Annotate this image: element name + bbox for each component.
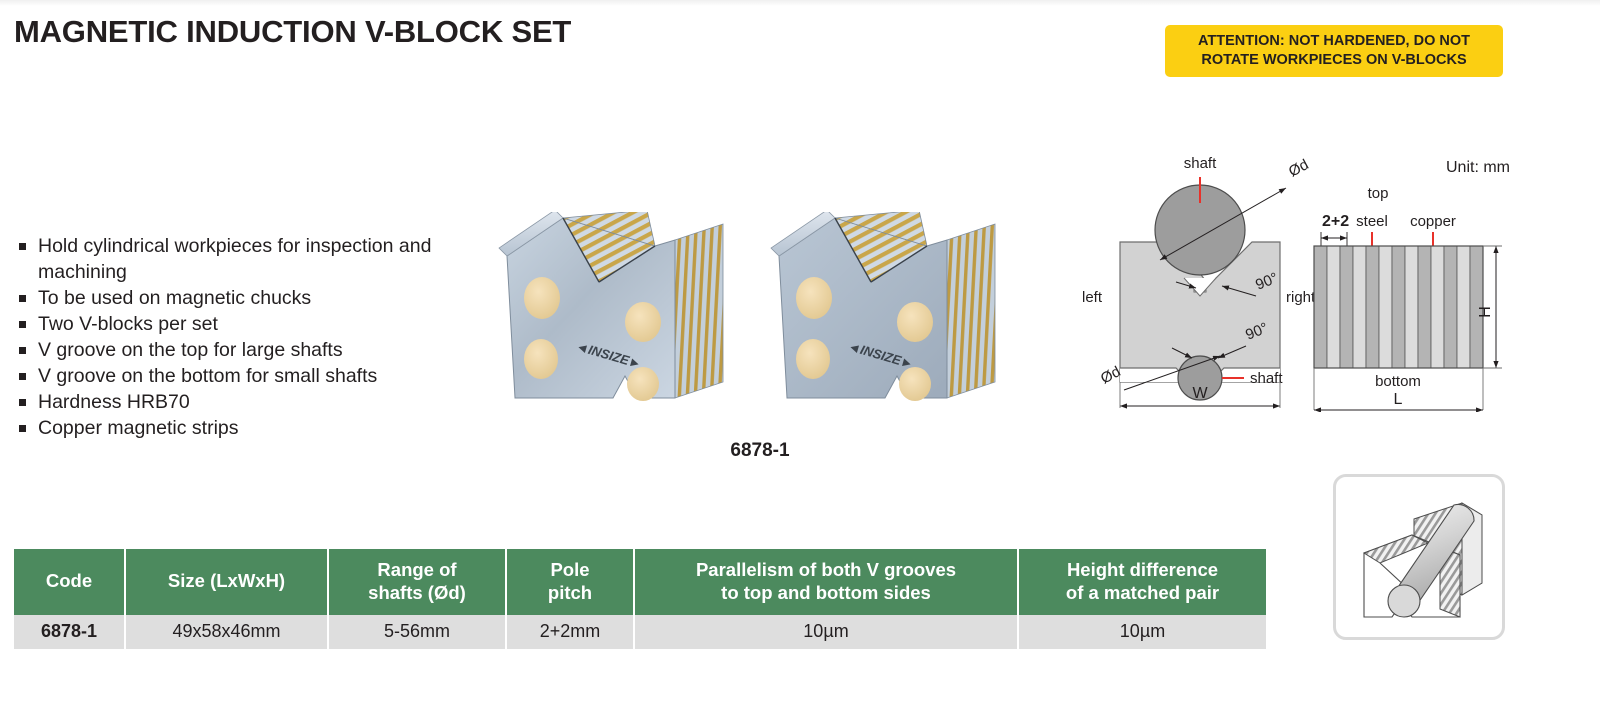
attention-line-2: ROTATE WORKPIECES ON V-BLOCKS — [1171, 51, 1497, 70]
header-line: pitch — [548, 582, 592, 603]
side-view-diagram: Unit: mm top 2+2 steel copper — [1314, 159, 1510, 410]
label-diameter-top: Ød — [1286, 156, 1312, 180]
header-line: Size (LxWxH) — [168, 570, 285, 591]
table-header-row: Code Size (LxWxH) Range of shafts (Ød) P… — [14, 549, 1266, 615]
lamination-strips — [1314, 246, 1483, 368]
cell-code: 6878-1 — [14, 615, 125, 649]
list-item: Copper magnetic strips — [16, 415, 446, 441]
attention-banner: ATTENTION: NOT HARDENED, DO NOT ROTATE W… — [1165, 25, 1503, 77]
list-item: Hardness HRB70 — [16, 389, 446, 415]
list-item: V groove on the bottom for small shafts — [16, 363, 446, 389]
header-line: Parallelism of both V grooves — [696, 559, 956, 580]
product-code-caption: 6878-1 — [495, 440, 1025, 462]
top-gradient-band — [0, 0, 1600, 6]
label-length-dim: L — [1394, 391, 1403, 408]
header-line: Code — [46, 570, 92, 591]
label-bottom: bottom — [1375, 373, 1421, 390]
attention-line-1: ATTENTION: NOT HARDENED, DO NOT — [1171, 32, 1497, 51]
label-side-right: right — [1286, 289, 1316, 306]
header-line: Pole — [550, 559, 589, 580]
label-height-dim: H — [1477, 306, 1494, 318]
label-top: top — [1368, 185, 1389, 202]
label-pole-pitch: 2+2 — [1322, 213, 1349, 230]
column-header-parallelism: Parallelism of both V grooves to top and… — [634, 549, 1018, 615]
product-datasheet-page: MAGNETIC INDUCTION V-BLOCK SET ATTENTION… — [0, 0, 1600, 705]
cell-size: 49x58x46mm — [125, 615, 328, 649]
label-width-dim: W — [1192, 385, 1208, 402]
list-item: To be used on magnetic chucks — [16, 285, 446, 311]
column-header-range-of-shafts: Range of shafts (Ød) — [328, 549, 506, 615]
column-header-code: Code — [14, 549, 125, 615]
features-list: Hold cylindrical workpieces for inspecti… — [16, 233, 446, 441]
label-unit: Unit: mm — [1446, 159, 1510, 176]
application-illustration-box — [1333, 474, 1505, 640]
cell-pole-pitch: 2+2mm — [506, 615, 634, 649]
page-title: MAGNETIC INDUCTION V-BLOCK SET — [14, 14, 571, 50]
product-photo: ◄INSIZE► ◄INSIZE► — [495, 212, 1025, 427]
v-block-right: ◄INSIZE► — [771, 212, 995, 401]
list-item: Hold cylindrical workpieces for inspecti… — [16, 233, 446, 285]
column-header-height-difference: Height difference of a matched pair — [1018, 549, 1266, 615]
label-material-steel: steel — [1356, 213, 1388, 230]
header-line: Height difference — [1067, 559, 1218, 580]
specification-table: Code Size (LxWxH) Range of shafts (Ød) P… — [14, 549, 1266, 649]
label-material-copper: copper — [1410, 213, 1456, 230]
technical-diagrams: shaft Ød 90° 90° Ød shaft — [1080, 150, 1520, 410]
label-shaft-top: shaft — [1184, 155, 1217, 172]
list-item: Two V-blocks per set — [16, 311, 446, 337]
column-header-pole-pitch: Pole pitch — [506, 549, 634, 615]
header-line: of a matched pair — [1066, 582, 1219, 603]
header-line: Range of — [377, 559, 456, 580]
label-shaft-bottom: shaft — [1250, 370, 1283, 387]
cell-parallelism: 10µm — [634, 615, 1018, 649]
cell-height-difference: 10µm — [1018, 615, 1266, 649]
front-view-diagram: shaft Ød 90° 90° Ød shaft — [1082, 155, 1316, 408]
list-item: V groove on the top for large shafts — [16, 337, 446, 363]
table-row: 6878-1 49x58x46mm 5-56mm 2+2mm 10µm 10µm — [14, 615, 1266, 649]
cell-range-of-shafts: 5-56mm — [328, 615, 506, 649]
header-line: shafts (Ød) — [368, 582, 466, 603]
v-block-left: ◄INSIZE► — [499, 212, 723, 401]
header-line: to top and bottom sides — [721, 582, 931, 603]
column-header-size: Size (LxWxH) — [125, 549, 328, 615]
label-side-left: left — [1082, 289, 1103, 306]
